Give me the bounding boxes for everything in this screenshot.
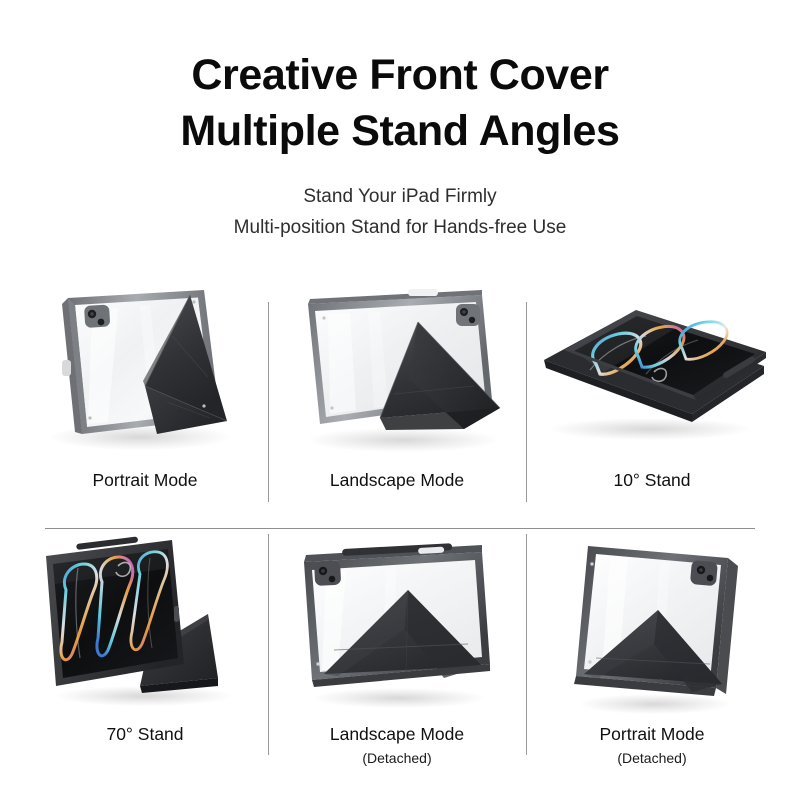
product-feature-page: { "page": { "background_color": "#ffffff… <box>0 0 800 800</box>
grid-cell-landscape-mode-detached[interactable]: Landscape Mode (Detached) <box>268 528 526 782</box>
product-image-landscape-mode <box>268 282 526 452</box>
illustration-ipad-flat-low-angle <box>526 282 778 452</box>
subtitle-line-2: Multi-position Stand for Hands-free Use <box>0 213 800 244</box>
cell-caption: 70° Stand <box>22 724 268 745</box>
page-title: Creative Front Cover Multiple Stand Angl… <box>0 48 800 160</box>
headline-line-2: Multiple Stand Angles <box>0 104 800 160</box>
cell-caption: Portrait Mode <box>22 470 268 491</box>
cell-caption: Landscape Mode <box>268 470 526 491</box>
headline-line-1: Creative Front Cover <box>0 48 800 104</box>
feature-grid: Portrait Mode <box>0 282 800 782</box>
cell-caption-sub: (Detached) <box>526 750 778 766</box>
illustration-clear-case-portrait-fold <box>526 528 778 714</box>
illustration-ipad-upright-high-angle <box>22 528 268 714</box>
illustration-clear-case-landscape-fold <box>268 528 526 714</box>
grid-cell-stand-10-degree[interactable]: 10° Stand <box>526 282 778 528</box>
cell-caption: Landscape Mode <box>268 724 526 745</box>
cell-caption: Portrait Mode <box>526 724 778 745</box>
page-header: Creative Front Cover Multiple Stand Angl… <box>0 0 800 243</box>
product-image-stand-10-degree <box>526 282 778 452</box>
product-image-landscape-detached <box>268 528 526 714</box>
grid-cell-portrait-mode[interactable]: Portrait Mode <box>22 282 268 528</box>
grid-cell-landscape-mode[interactable]: Landscape Mode <box>268 282 526 528</box>
product-image-portrait-detached <box>526 528 778 714</box>
grid-cell-stand-70-degree[interactable]: 70° Stand <box>22 528 268 782</box>
subtitle-line-1: Stand Your iPad Firmly <box>0 182 800 213</box>
illustration-case-back-portrait <box>22 282 268 452</box>
page-subtitle: Stand Your iPad Firmly Multi-position St… <box>0 182 800 244</box>
product-image-portrait-mode <box>22 282 268 452</box>
cell-caption: 10° Stand <box>526 470 778 491</box>
grid-cell-portrait-mode-detached[interactable]: Portrait Mode (Detached) <box>526 528 778 782</box>
cell-caption-sub: (Detached) <box>268 750 526 766</box>
product-image-stand-70-degree <box>22 528 268 714</box>
illustration-case-back-landscape <box>268 282 526 452</box>
